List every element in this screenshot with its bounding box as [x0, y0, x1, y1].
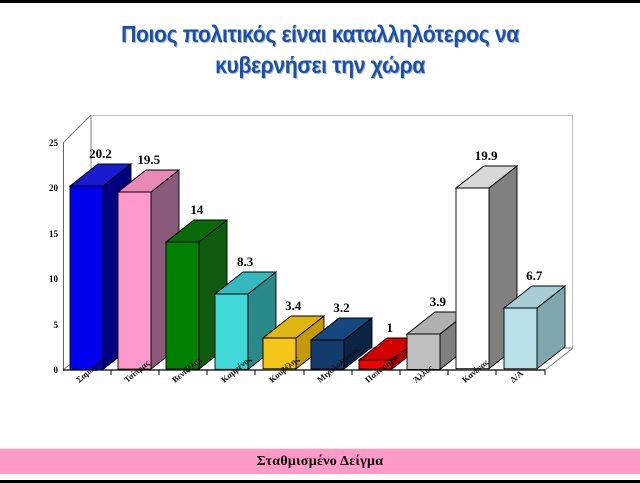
bar-value-label-9: 6.7 — [526, 268, 542, 284]
bar-value-label-0: 20.2 — [89, 146, 112, 162]
bar-value-label-4: 3.4 — [285, 298, 301, 314]
page-title: Ποιος πολιτικός είναι καταλληλότερος να … — [81, 19, 559, 81]
y-tick-0: 0 — [54, 365, 59, 375]
footer-banner: Σταθμισμένο Δείγμα — [0, 448, 640, 474]
x-axis-labels: ΣαμαράςΤσίπραςΒενιζέλοςΚαμμένοςΚουβέληςΜ… — [63, 377, 583, 427]
bar-value-label-3: 8.3 — [237, 254, 253, 270]
bar-9[interactable] — [504, 287, 565, 370]
y-tick-10: 10 — [49, 274, 58, 284]
bar-value-label-8: 19.9 — [475, 148, 498, 164]
bar-value-label-1: 19.5 — [137, 152, 160, 168]
bar-value-label-7: 3.9 — [430, 294, 446, 310]
slide-root: Ποιος πολιτικός είναι καταλληλότερος να … — [0, 0, 640, 483]
y-tick-20: 20 — [49, 183, 58, 193]
bar-value-label-5: 3.2 — [333, 300, 349, 316]
y-tick-15: 15 — [49, 229, 58, 239]
footer-label: Σταθμισμένο Δείγμα — [257, 454, 384, 470]
bar-series: 20.219.5148.33.43.213.919.96.7 — [63, 115, 573, 377]
y-tick-5: 5 — [54, 320, 59, 330]
y-tick-25: 25 — [49, 138, 58, 148]
bar-value-label-2: 14 — [190, 202, 203, 218]
chart-plot-area: 0 5 10 15 20 25 20.219.5148.33.43.213.91… — [63, 115, 573, 377]
bar-value-label-6: 1 — [386, 320, 393, 336]
